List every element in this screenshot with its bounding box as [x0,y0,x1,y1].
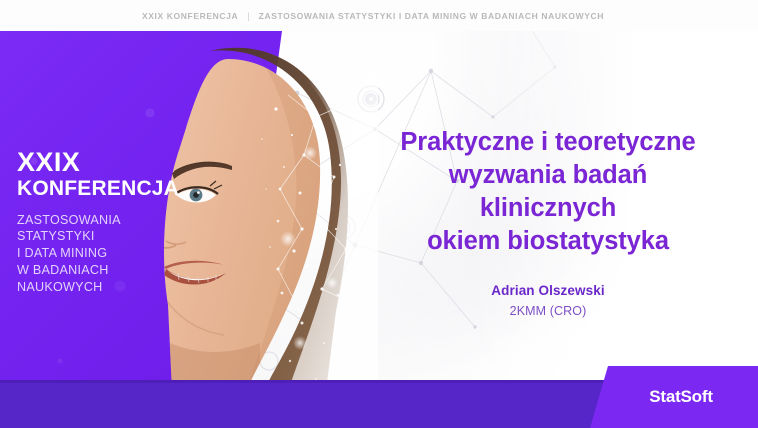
statsoft-logo-text: StatSoft [649,387,713,407]
conference-title-slide: XXIX KONFERENCJA | ZASTOSOWANIA STATYSTY… [0,0,758,428]
header-conference-subject: ZASTOSOWANIA STATYSTYKI I DATA MINING W … [259,11,604,21]
title-line: klinicznych [352,192,744,225]
panel-subtitle-line: NAUKOWYCH [17,279,197,296]
title-line: wyzwania badań [352,159,744,192]
panel-subtitle-line: ZASTOSOWANIA [17,212,197,229]
slide-header-bar: XXIX KONFERENCJA | ZASTOSOWANIA STATYSTY… [0,0,758,31]
presenter-affiliation: 2KMM (CRO) [352,304,744,318]
header-separator: | [247,11,249,21]
slide-header-inner: XXIX KONFERENCJA | ZASTOSOWANIA STATYSTY… [142,11,604,21]
panel-subtitle-line: STATYSTYKI [17,228,197,245]
panel-subtitle: ZASTOSOWANIA STATYSTYKI I DATA MINING W … [17,212,197,296]
panel-subtitle-line: W BADANIACH [17,262,197,279]
panel-conference-word: KONFERENCJA [17,177,197,201]
panel-edition-number: XXIX [17,148,197,176]
title-line: Praktyczne i teoretyczne [352,126,744,159]
presentation-title-block: Praktyczne i teoretyczne wyzwania badań … [352,126,744,318]
panel-copy-block: XXIX KONFERENCJA ZASTOSOWANIA STATYSTYKI… [17,148,197,295]
panel-subtitle-line: I DATA MINING [17,245,197,262]
statsoft-logo-plate[interactable]: StatSoft [590,366,758,428]
title-line: okiem biostatystyka [352,225,744,258]
presenter-name: Adrian Olszewski [352,283,744,298]
header-conference-name: XXIX KONFERENCJA [142,11,238,21]
